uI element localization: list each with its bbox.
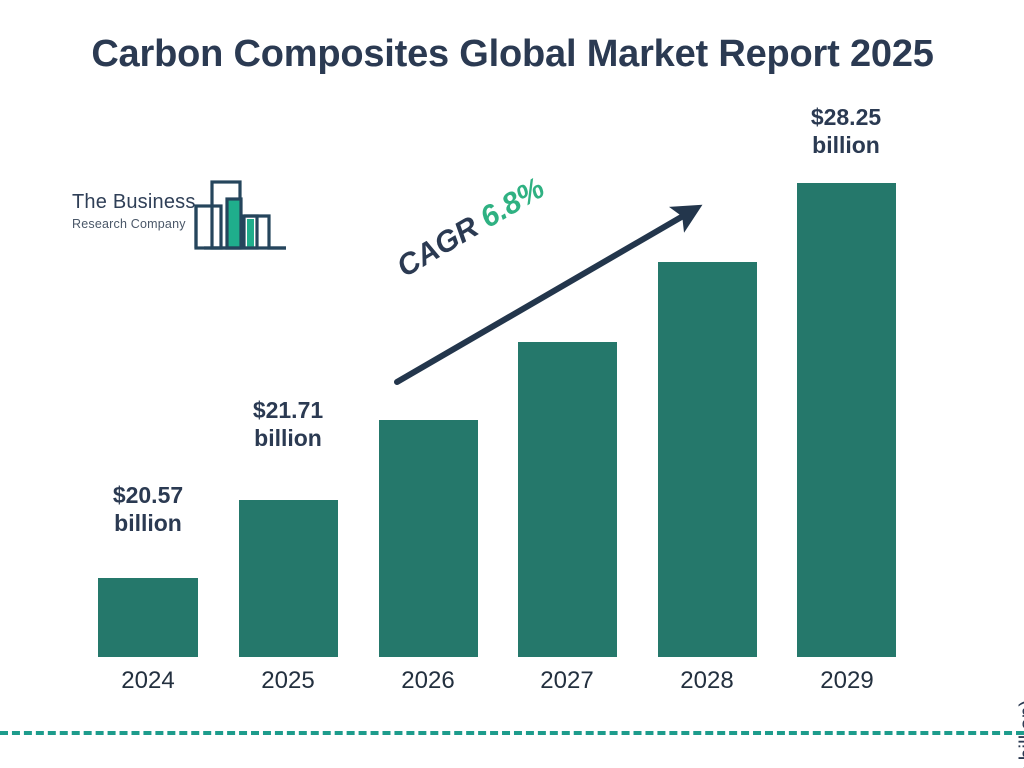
chart-canvas: Carbon Composites Global Market Report 2…	[0, 0, 1024, 768]
x-tick-2026: 2026	[368, 667, 488, 695]
bar-2024	[98, 578, 198, 657]
footer-divider	[0, 731, 1024, 735]
bar-2025	[239, 500, 338, 657]
bar-2028	[658, 262, 757, 657]
x-tick-2024: 2024	[88, 667, 208, 695]
y-axis-title: Market Size (in USD billion)	[1016, 658, 1024, 768]
bar-2027	[518, 342, 617, 657]
value-label-2029: $28.25 billion	[776, 103, 916, 159]
x-tick-2027: 2027	[507, 667, 627, 695]
bar-2026	[379, 420, 478, 657]
value-label-2025: $21.71 billion	[218, 396, 358, 452]
x-tick-2028: 2028	[647, 667, 767, 695]
x-tick-2025: 2025	[228, 667, 348, 695]
bar-chart-plot-area: $20.57 billion $21.71 billion $28.25 bil…	[0, 0, 1024, 768]
bar-2029	[797, 183, 896, 657]
value-label-2024: $20.57 billion	[78, 481, 218, 537]
x-tick-2029: 2029	[787, 667, 907, 695]
